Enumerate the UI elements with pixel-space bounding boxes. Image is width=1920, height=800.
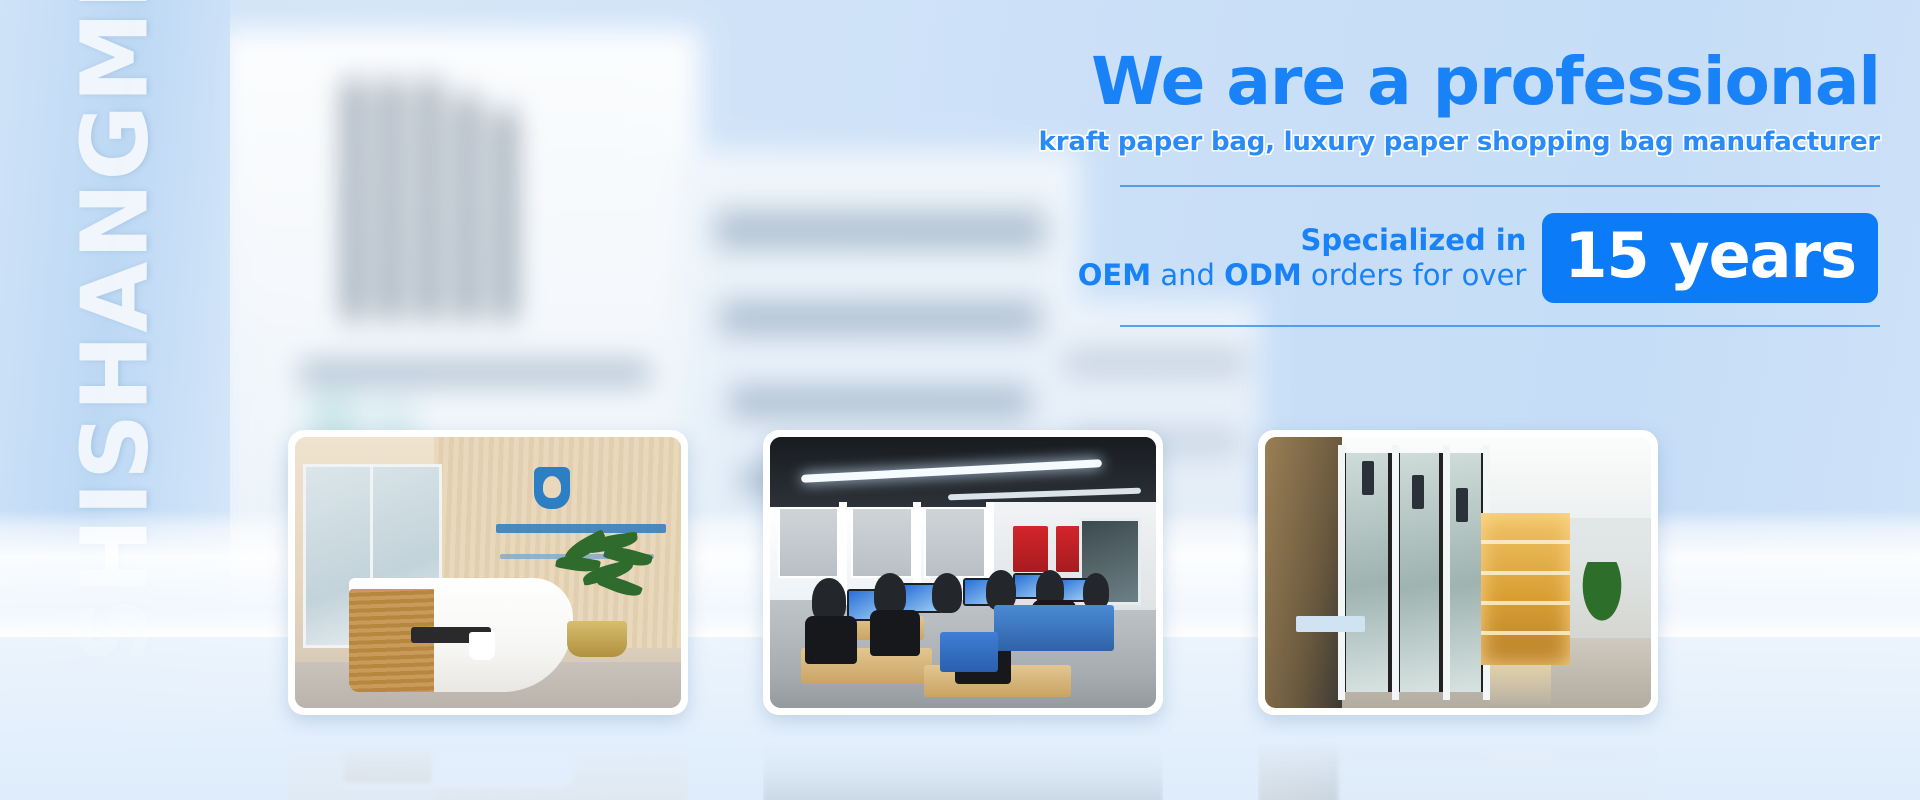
building-window-band xyxy=(1065,350,1245,376)
experience-promo: Specialized in OEM and ODM orders for ov… xyxy=(980,213,1880,303)
desk-divider-panel xyxy=(994,605,1114,651)
red-cabinet xyxy=(1013,526,1048,572)
window-blind xyxy=(778,507,840,577)
door-sign-plate xyxy=(1456,488,1468,522)
promo-line-2: OEM and ODM orders for over xyxy=(1078,258,1527,293)
building-window xyxy=(496,110,514,320)
photo-card-corridor[interactable] xyxy=(1258,430,1658,715)
years-badge: 15 years xyxy=(1542,213,1878,303)
photo-reflection-1 xyxy=(288,730,688,800)
company-logo-mark xyxy=(534,467,570,509)
building-window xyxy=(382,80,400,320)
office-worker xyxy=(1083,573,1109,609)
photo-gallery xyxy=(0,430,1920,730)
company-name-sign xyxy=(496,524,666,533)
building-window xyxy=(345,80,363,320)
large-plant xyxy=(552,535,662,625)
building-window-band xyxy=(730,385,1030,419)
office-chair xyxy=(870,610,920,656)
window-blind xyxy=(851,507,913,577)
subtitle: kraft paper bag, luxury paper shopping b… xyxy=(980,127,1880,157)
office-worker xyxy=(986,570,1016,610)
page-title: We are a professional xyxy=(980,46,1880,117)
office-chair xyxy=(805,616,857,664)
photo-reflection-2 xyxy=(763,730,1163,800)
building-window xyxy=(420,80,438,320)
corridor-showroom-photo xyxy=(1265,437,1651,708)
office-worker xyxy=(874,573,906,615)
golden-plant-pot xyxy=(567,621,627,657)
promo-suffix: orders for over xyxy=(1302,258,1527,292)
office-workspace-photo xyxy=(770,437,1156,708)
company-profile-banner: SHISHANGMEI We are a professional kraft … xyxy=(0,0,1920,800)
divider-top-wrap xyxy=(980,185,1880,187)
building-window xyxy=(458,95,476,320)
building-window-band xyxy=(300,360,650,386)
marketing-copy-block: We are a professional kraft paper bag, l… xyxy=(980,46,1880,327)
promo-and: and xyxy=(1151,258,1224,292)
showroom-display-shelves xyxy=(1481,513,1570,665)
window-blind xyxy=(924,507,986,577)
photo-card-reception[interactable] xyxy=(288,430,688,715)
door-sign-plate xyxy=(1412,475,1424,509)
photo-card-office[interactable] xyxy=(763,430,1163,715)
corridor-plant xyxy=(1572,562,1632,640)
divider-bottom xyxy=(1120,325,1880,327)
promo-line-1: Specialized in xyxy=(1078,223,1527,258)
office-worker xyxy=(932,573,962,613)
door-info-label xyxy=(1296,616,1365,632)
reception-lobby-photo xyxy=(295,437,681,708)
divider-bottom-wrap xyxy=(980,325,1880,327)
door-frame xyxy=(1443,445,1450,700)
door-frame xyxy=(1392,445,1399,700)
odm-label: ODM xyxy=(1224,258,1302,292)
divider-top xyxy=(1120,185,1880,187)
blue-storage-boxes xyxy=(940,632,998,672)
small-plant-pot xyxy=(469,632,495,660)
experience-promo-text: Specialized in OEM and ODM orders for ov… xyxy=(1078,223,1527,294)
door-frame xyxy=(1338,445,1345,700)
door-sign-plate xyxy=(1362,461,1374,495)
photo-reflection-3 xyxy=(1258,730,1658,800)
oem-label: OEM xyxy=(1078,258,1151,292)
wooden-cabinet-wall xyxy=(1265,437,1342,708)
